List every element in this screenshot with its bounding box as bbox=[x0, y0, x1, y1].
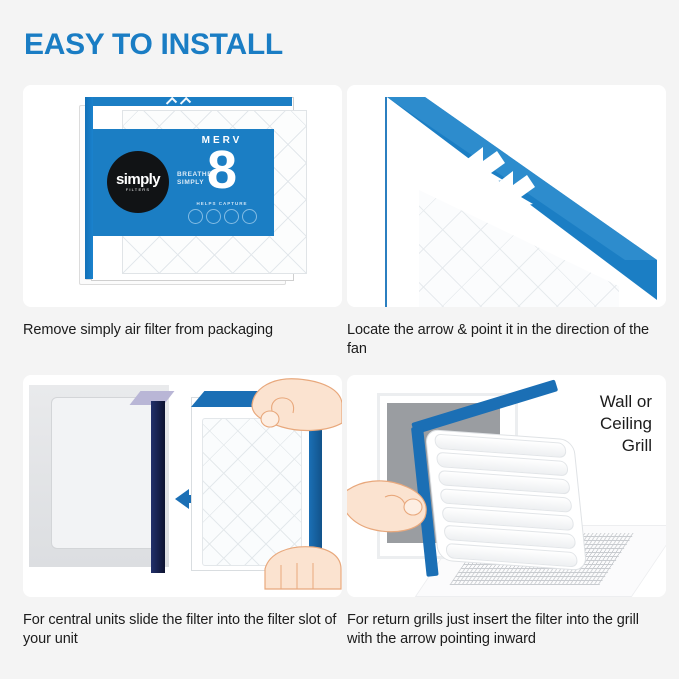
panel-grid: simply FILTERS BREATHE SIMPLY MERV 8 HEL… bbox=[0, 85, 679, 679]
hvac-unit bbox=[29, 383, 181, 573]
mold-icon bbox=[242, 209, 257, 224]
panel-caption: For central units slide the filter into … bbox=[23, 611, 342, 649]
filter-package-illustration: simply FILTERS BREATHE SIMPLY MERV 8 HEL… bbox=[71, 97, 296, 295]
panel-return-grill: Wall or Ceiling Grill For return grills … bbox=[347, 375, 666, 649]
panel-central-unit: For central units slide the filter into … bbox=[23, 375, 342, 649]
hand-icon bbox=[248, 375, 342, 437]
filter-box-spine bbox=[85, 97, 93, 279]
page-title: EASY TO INSTALL bbox=[24, 28, 283, 62]
infographic-page: EASY TO INSTALL bbox=[0, 0, 679, 679]
merv-value: 8 bbox=[186, 143, 258, 197]
hand-icon bbox=[347, 471, 451, 537]
pollen-icon bbox=[206, 209, 221, 224]
brand-name: simply bbox=[116, 173, 160, 186]
panel-caption: Locate the arrow & point it in the direc… bbox=[347, 321, 666, 359]
filter-frame-diagonal bbox=[347, 85, 666, 307]
panel-caption: Remove simply air filter from packaging bbox=[23, 321, 342, 340]
brand-subtext: FILTERS bbox=[126, 187, 151, 192]
filter-box-top-band bbox=[93, 97, 292, 106]
grill-note-line-2: Ceiling bbox=[547, 413, 652, 435]
hand-icon bbox=[263, 535, 342, 591]
filter-corner-illustration bbox=[347, 85, 666, 307]
package-label: simply FILTERS BREATHE SIMPLY MERV 8 HEL… bbox=[93, 129, 274, 236]
pet-dander-icon bbox=[224, 209, 239, 224]
panel-remove-filter: simply FILTERS BREATHE SIMPLY MERV 8 HEL… bbox=[23, 85, 342, 340]
grill-note-line-3: Grill bbox=[547, 435, 652, 457]
unit-face-panel bbox=[51, 397, 165, 549]
grill-note-line-1: Wall or bbox=[547, 391, 652, 413]
panel-image-card: simply FILTERS BREATHE SIMPLY MERV 8 HEL… bbox=[23, 85, 342, 307]
panel-locate-arrow: Locate the arrow & point it in the direc… bbox=[347, 85, 666, 359]
dust-icon bbox=[188, 209, 203, 224]
capture-icon-row bbox=[184, 209, 260, 224]
filter-slot bbox=[151, 401, 165, 573]
panel-image-card bbox=[347, 85, 666, 307]
panel-image-card: Wall or Ceiling Grill bbox=[347, 375, 666, 597]
panel-caption: For return grills just insert the filter… bbox=[347, 611, 666, 649]
panel-image-card bbox=[23, 375, 342, 597]
brand-logo: simply FILTERS bbox=[107, 151, 169, 213]
grill-note: Wall or Ceiling Grill bbox=[547, 391, 652, 457]
helps-capture-label: HELPS CAPTURE bbox=[186, 201, 258, 206]
